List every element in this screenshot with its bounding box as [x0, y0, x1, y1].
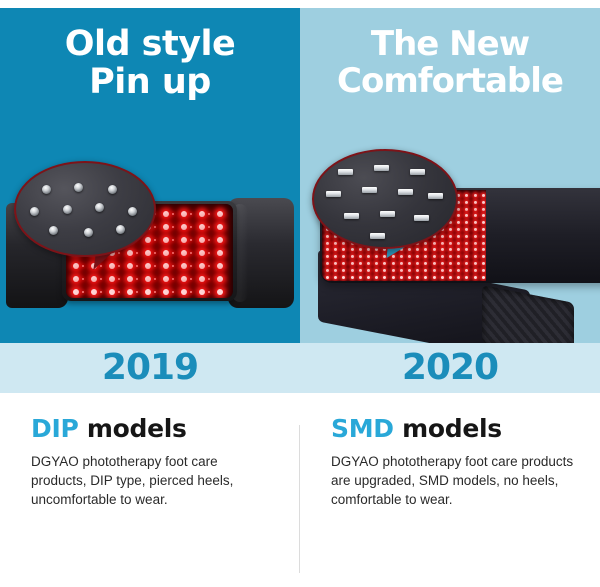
led-dot	[465, 214, 468, 217]
led-dot	[474, 228, 477, 231]
led-dot	[416, 276, 419, 279]
led-dot	[351, 255, 354, 258]
led-dot-small	[190, 291, 192, 293]
led-dot	[181, 224, 187, 230]
led-dot	[217, 263, 223, 269]
led-dot	[199, 237, 205, 243]
smd-chip-icon	[410, 169, 425, 175]
led-dot	[441, 262, 444, 265]
led-dot	[73, 276, 79, 282]
pin-rivet-icon	[116, 225, 125, 234]
led-dot-small	[172, 252, 174, 254]
led-dot	[181, 211, 187, 217]
led-dot	[482, 201, 485, 204]
description-left: DIP models DGYAO phototherapy foot care …	[0, 393, 300, 587]
led-dot	[109, 276, 115, 282]
led-dot	[482, 255, 485, 258]
led-dot	[334, 255, 337, 258]
description-section: DIP models DGYAO phototherapy foot care …	[0, 393, 600, 587]
led-dot	[457, 269, 460, 272]
led-dot	[465, 194, 468, 197]
led-dot-small	[118, 291, 120, 293]
led-dot	[441, 248, 444, 251]
smd-title-rest: models	[394, 414, 502, 443]
led-dot-small	[136, 265, 138, 267]
led-dot	[145, 289, 151, 295]
led-dot	[375, 255, 378, 258]
led-dot-small	[190, 265, 192, 267]
led-dot	[199, 276, 205, 282]
led-dot	[465, 228, 468, 231]
led-dot	[326, 242, 329, 245]
led-dot-small	[208, 265, 210, 267]
led-dot	[441, 255, 444, 258]
dip-title-rest: models	[78, 414, 186, 443]
led-dot	[474, 269, 477, 272]
led-dot	[359, 276, 362, 279]
led-dot	[433, 262, 436, 265]
led-dot	[474, 194, 477, 197]
led-dot-small	[208, 226, 210, 228]
led-dot-small	[190, 213, 192, 215]
led-dot	[474, 235, 477, 238]
led-dot	[163, 276, 169, 282]
led-dot-small	[208, 252, 210, 254]
comparison-infographic: Old style Pin up 2019 The New Comfortabl…	[0, 0, 600, 587]
led-dot-small	[154, 252, 156, 254]
panel-old-style: Old style Pin up 2019	[0, 8, 300, 393]
led-dot	[457, 235, 460, 238]
led-dot	[433, 255, 436, 258]
led-dot-small	[136, 291, 138, 293]
hero-comparison: Old style Pin up 2019 The New Comfortabl…	[0, 8, 600, 393]
led-dot	[482, 194, 485, 197]
description-right: SMD models DGYAO phototherapy foot care …	[300, 393, 600, 587]
smd-chip-icon	[398, 189, 413, 195]
led-dot	[424, 255, 427, 258]
led-dot	[400, 262, 403, 265]
led-dot	[482, 269, 485, 272]
new-year-label: 2020	[300, 345, 600, 391]
led-dot-small	[208, 278, 210, 280]
led-dot-small	[154, 239, 156, 241]
led-dot	[474, 242, 477, 245]
led-dot	[359, 255, 362, 258]
pin-rivet-icon	[108, 185, 117, 194]
led-dot	[465, 208, 468, 211]
led-dot	[145, 237, 151, 243]
led-dot	[145, 250, 151, 256]
led-dot	[367, 262, 370, 265]
led-dot	[181, 263, 187, 269]
led-dot	[457, 255, 460, 258]
led-dot-small	[190, 226, 192, 228]
led-dot-small	[82, 291, 84, 293]
led-dot-small	[82, 265, 84, 267]
led-dot	[367, 269, 370, 272]
led-dot	[367, 255, 370, 258]
led-dot	[342, 276, 345, 279]
led-dot-small	[172, 226, 174, 228]
led-dot	[482, 262, 485, 265]
led-dot	[127, 263, 133, 269]
led-dot	[199, 289, 205, 295]
led-dot	[457, 208, 460, 211]
led-dot	[457, 221, 460, 224]
led-dot	[449, 269, 452, 272]
dip-title-accent: DIP	[31, 414, 78, 443]
led-dot	[342, 262, 345, 265]
led-dot	[457, 214, 460, 217]
led-dot	[163, 224, 169, 230]
led-dot	[326, 255, 329, 258]
led-dot	[474, 262, 477, 265]
led-dot	[482, 221, 485, 224]
led-dot	[109, 289, 115, 295]
led-dot	[181, 250, 187, 256]
led-dot	[457, 276, 460, 279]
led-dot	[465, 262, 468, 265]
led-dot	[383, 276, 386, 279]
led-dot	[424, 248, 427, 251]
led-dot-small	[100, 278, 102, 280]
led-dot	[416, 262, 419, 265]
led-dot-small	[136, 278, 138, 280]
led-dot	[449, 228, 452, 231]
led-dot	[457, 242, 460, 245]
led-dot	[465, 255, 468, 258]
led-dot-small	[190, 239, 192, 241]
smd-chip-icon	[326, 191, 341, 197]
led-dot-small	[190, 278, 192, 280]
led-dot	[441, 242, 444, 245]
led-dot	[334, 276, 337, 279]
led-dot	[474, 214, 477, 217]
panel-new-comfortable: The New Comfortable 2020	[300, 8, 600, 393]
led-dot-small	[190, 252, 192, 254]
led-dot	[474, 221, 477, 224]
led-dot	[383, 262, 386, 265]
led-dot	[465, 235, 468, 238]
led-dot	[433, 276, 436, 279]
new-callout-bubble	[312, 149, 458, 249]
led-dot-small	[82, 278, 84, 280]
led-dot	[457, 228, 460, 231]
led-dot	[181, 237, 187, 243]
led-dot	[424, 269, 427, 272]
led-dot-small	[172, 265, 174, 267]
led-dot-small	[172, 239, 174, 241]
led-dot	[334, 248, 337, 251]
led-dot-small	[136, 252, 138, 254]
led-dot	[367, 276, 370, 279]
led-dot	[334, 262, 337, 265]
led-dot-small	[154, 226, 156, 228]
led-dot-small	[208, 291, 210, 293]
led-dot	[367, 248, 370, 251]
smd-models-body: DGYAO phototherapy foot care products ar…	[331, 452, 574, 509]
led-dot	[482, 242, 485, 245]
led-dot	[326, 262, 329, 265]
led-dot-small	[100, 291, 102, 293]
led-dot	[408, 269, 411, 272]
led-dot	[441, 269, 444, 272]
led-dot	[73, 263, 79, 269]
pin-rivet-icon	[30, 207, 39, 216]
led-dot	[326, 235, 329, 238]
led-dot	[482, 235, 485, 238]
dip-models-body: DGYAO phototherapy foot care products, D…	[31, 452, 274, 509]
led-dot-small	[154, 291, 156, 293]
led-dot-small	[172, 291, 174, 293]
led-dot	[145, 263, 151, 269]
led-dot	[433, 242, 436, 245]
led-dot	[351, 269, 354, 272]
led-dot	[408, 276, 411, 279]
led-dot	[217, 224, 223, 230]
smd-chip-icon	[380, 211, 395, 217]
led-dot	[326, 248, 329, 251]
led-dot	[351, 276, 354, 279]
smd-models-title: SMD models	[331, 415, 574, 443]
led-dot	[359, 269, 362, 272]
led-dot	[351, 248, 354, 251]
led-dot	[449, 248, 452, 251]
led-dot	[199, 211, 205, 217]
smd-chip-icon	[362, 187, 377, 193]
led-dot	[449, 242, 452, 245]
led-dot	[127, 250, 133, 256]
led-dot	[433, 269, 436, 272]
led-dot	[465, 242, 468, 245]
smd-chip-icon	[370, 233, 385, 239]
led-dot	[482, 276, 485, 279]
led-dot	[474, 276, 477, 279]
old-year-label: 2019	[0, 345, 300, 391]
led-dot	[127, 289, 133, 295]
led-dot	[482, 228, 485, 231]
led-dot-small	[118, 278, 120, 280]
led-dot	[334, 269, 337, 272]
led-dot	[181, 289, 187, 295]
led-dot-small	[208, 213, 210, 215]
led-dot	[449, 276, 452, 279]
led-dot	[91, 276, 97, 282]
pin-rivet-icon	[84, 228, 93, 237]
old-product-image	[0, 8, 300, 343]
led-dot-small	[208, 239, 210, 241]
led-dot	[199, 263, 205, 269]
led-dot	[465, 221, 468, 224]
led-dot	[392, 269, 395, 272]
led-dot	[383, 269, 386, 272]
led-dot	[91, 289, 97, 295]
led-dot	[342, 248, 345, 251]
smd-chip-icon	[374, 165, 389, 171]
led-dot	[408, 262, 411, 265]
led-dot	[73, 289, 79, 295]
led-dot	[199, 224, 205, 230]
led-dot	[342, 242, 345, 245]
smd-chip-icon	[428, 193, 443, 199]
led-dot	[217, 211, 223, 217]
smd-chip-icon	[344, 213, 359, 219]
led-dot-small	[154, 278, 156, 280]
led-dot	[217, 250, 223, 256]
led-dot	[359, 248, 362, 251]
led-dot	[199, 250, 205, 256]
dip-models-title: DIP models	[31, 415, 274, 443]
led-dot	[449, 262, 452, 265]
led-dot	[351, 262, 354, 265]
smd-chip-icon	[338, 169, 353, 175]
led-dot	[163, 289, 169, 295]
led-dot	[375, 269, 378, 272]
led-dot	[449, 255, 452, 258]
led-dot	[217, 237, 223, 243]
led-dot	[127, 276, 133, 282]
led-dot	[217, 289, 223, 295]
led-dot	[465, 201, 468, 204]
led-dot	[326, 269, 329, 272]
led-dot	[424, 276, 427, 279]
led-dot	[375, 276, 378, 279]
led-dot	[375, 262, 378, 265]
led-dot	[326, 276, 329, 279]
pin-rivet-icon	[63, 205, 72, 214]
led-dot	[163, 211, 169, 217]
led-dot	[465, 248, 468, 251]
led-dot	[441, 235, 444, 238]
led-dot	[449, 235, 452, 238]
led-dot-small	[172, 213, 174, 215]
led-dot	[342, 255, 345, 258]
old-callout-bubble	[14, 161, 156, 257]
led-dot-small	[154, 265, 156, 267]
pin-rivet-icon	[49, 226, 58, 235]
led-dot	[482, 214, 485, 217]
led-dot	[424, 262, 427, 265]
led-dot	[181, 276, 187, 282]
led-dot	[457, 262, 460, 265]
led-dot	[359, 262, 362, 265]
led-dot	[457, 248, 460, 251]
led-dot	[392, 262, 395, 265]
led-dot	[163, 250, 169, 256]
led-dot	[400, 276, 403, 279]
old-belt-roll	[228, 198, 294, 308]
new-product-image	[300, 8, 600, 343]
pin-rivet-icon	[95, 203, 104, 212]
led-dot	[217, 276, 223, 282]
led-dot	[163, 263, 169, 269]
led-dot	[482, 208, 485, 211]
led-dot	[465, 269, 468, 272]
led-dot-small	[172, 278, 174, 280]
led-dot	[424, 242, 427, 245]
led-dot	[433, 248, 436, 251]
pin-rivet-icon	[42, 185, 51, 194]
led-dot	[474, 255, 477, 258]
led-dot	[482, 248, 485, 251]
led-dot	[334, 242, 337, 245]
led-dot	[400, 269, 403, 272]
pin-rivet-icon	[74, 183, 83, 192]
led-dot	[474, 208, 477, 211]
smd-title-accent: SMD	[331, 414, 394, 443]
smd-chip-icon	[414, 215, 429, 221]
led-dot	[392, 276, 395, 279]
led-dot	[441, 276, 444, 279]
led-dot	[163, 237, 169, 243]
led-dot	[474, 201, 477, 204]
led-dot	[465, 276, 468, 279]
led-dot	[474, 248, 477, 251]
led-dot	[342, 269, 345, 272]
led-dot	[375, 248, 378, 251]
led-dot	[416, 269, 419, 272]
pin-rivet-icon	[128, 207, 137, 216]
led-dot	[145, 276, 151, 282]
